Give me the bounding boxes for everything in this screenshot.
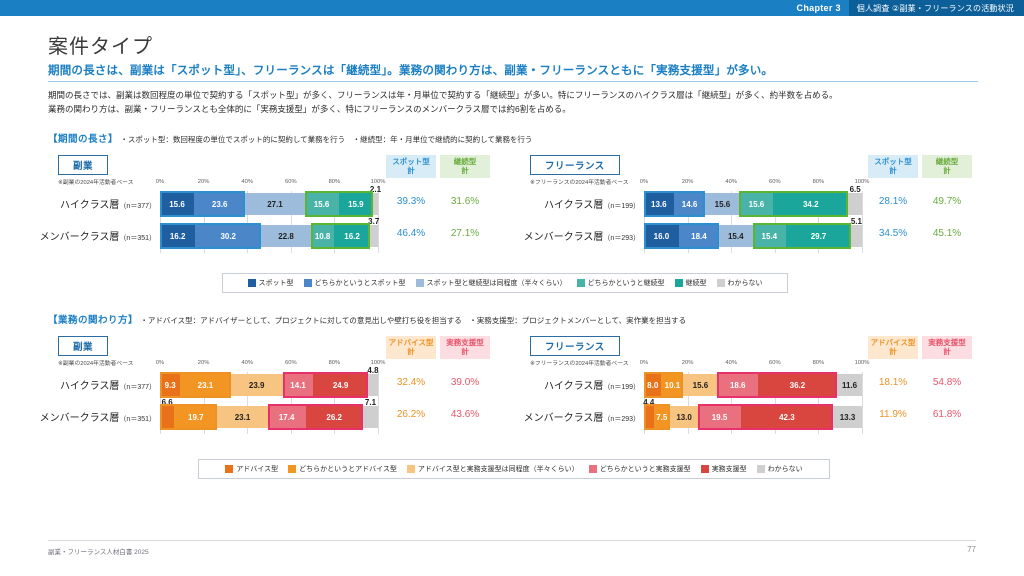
legend-item: わからない — [757, 464, 803, 474]
legend-label: スポット型と継続型は同程度（半々くらい） — [427, 278, 567, 288]
legend-item: どちらかというと実務支援型 — [589, 464, 691, 474]
summary-header-line2: 計 — [868, 348, 918, 357]
section-title-duration: 【期間の長さ】 — [48, 134, 118, 145]
legend-item: わからない — [717, 278, 763, 288]
bar-segment: 42.3 — [741, 406, 833, 428]
stacked-bar: 8.010.115.618.636.211.6 — [644, 374, 862, 396]
legend-swatch-icon — [407, 465, 415, 473]
axis-tick: 20% — [682, 179, 694, 185]
chart-row: ハイクラス層（n＝199）8.010.115.618.636.211.6 — [644, 374, 862, 396]
bar-segment: 34.2 — [773, 193, 848, 215]
row-label-count: （n＝293） — [603, 416, 640, 423]
bar-segment: 15.4 — [753, 225, 787, 247]
legend-label: どちらかというと実務支援型 — [600, 464, 691, 474]
summary-value: 28.1% — [868, 196, 918, 207]
legend-item: 継続型 — [675, 278, 707, 288]
bar-segment: 7.5 — [654, 406, 670, 428]
legend-duration: スポット型どちらかというとスポット型スポット型と継続型は同程度（半々くらい）どち… — [222, 273, 788, 293]
row-label: メンバークラス層（n＝293） — [524, 408, 644, 426]
legend-swatch-icon — [701, 465, 709, 473]
row-label-count: （n＝199） — [603, 384, 640, 391]
axis-tick: 0% — [640, 179, 648, 185]
chapter-number: Chapter 3 — [789, 0, 849, 16]
axis-tick: 40% — [725, 179, 737, 185]
legend-swatch-icon — [225, 465, 233, 473]
summary-value: 18.1% — [868, 377, 918, 388]
legend-item: アドバイス型と実務支援型は同程度（半々くらい） — [407, 464, 579, 474]
bar-segment: 8.0 — [644, 374, 661, 396]
summary-value: 54.8% — [922, 377, 972, 388]
legend-swatch-icon — [416, 279, 424, 287]
axis-tick: 0% — [640, 360, 648, 366]
legend-item: どちらかというとアドバイス型 — [288, 464, 397, 474]
section-title-involvement: 【業務の関わり方】 — [48, 315, 138, 326]
row-label-name: ハイクラス層 — [544, 381, 603, 392]
summary-value: 49.7% — [922, 196, 972, 207]
axis-tick: 60% — [769, 360, 781, 366]
chart-involvement-freelance: フリーランス※フリーランスの2024年活動者ベース0%20%40%60%80%1… — [0, 336, 1024, 436]
panel-tag-freelance: フリーランス — [530, 336, 620, 356]
row-label: ハイクラス層（n＝199） — [544, 376, 644, 394]
bar-segment: 36.2 — [758, 374, 837, 396]
row-label-name: ハイクラス層 — [544, 200, 603, 211]
legend-label: スポット型 — [259, 278, 294, 288]
bar-segment: 14.6 — [674, 193, 706, 215]
bar-segment-value: 6.5 — [850, 184, 861, 194]
bar-segment: 18.6 — [717, 374, 758, 396]
axis-tick: 20% — [682, 360, 694, 366]
bar-segment: 11.6 — [837, 374, 862, 396]
axis-ticks: 0%20%40%60%80%100% — [644, 360, 862, 370]
summary-value: 61.8% — [922, 409, 972, 420]
chart-duration-freelance: フリーランス※フリーランスの2024年活動者ベース0%20%40%60%80%1… — [0, 155, 1024, 255]
bar-segment: 4.4 — [644, 406, 654, 428]
legend-item: どちらかというとスポット型 — [304, 278, 406, 288]
row-label: ハイクラス層（n＝199） — [544, 195, 644, 213]
summary-value: 11.9% — [868, 409, 918, 420]
chapter-subtitle: 個人調査 ②副業・フリーランスの活動状況 — [849, 0, 1024, 16]
legend-label: どちらかというとアドバイス型 — [299, 464, 397, 474]
legend-swatch-icon — [248, 279, 256, 287]
plot-area: ハイクラス層（n＝199）8.010.115.618.636.211.6メンバー… — [644, 372, 862, 434]
legend-item: 実務支援型 — [701, 464, 747, 474]
axis-tick: 80% — [813, 360, 825, 366]
legend-item: スポット型と継続型は同程度（半々くらい） — [416, 278, 567, 288]
axis-tick: 100% — [855, 360, 870, 366]
panel-base-note-freelance_involve: ※フリーランスの2024年活動者ベース — [530, 358, 629, 367]
legend-swatch-icon — [757, 465, 765, 473]
bar-segment: 15.6 — [739, 193, 773, 215]
legend-involvement: アドバイス型どちらかというとアドバイス型アドバイス型と実務支援型は同程度（半々く… — [198, 459, 830, 479]
legend-label: 実務支援型 — [712, 464, 747, 474]
page-title: 案件タイプ — [48, 30, 153, 59]
legend-swatch-icon — [717, 279, 725, 287]
bar-segment: 13.6 — [644, 193, 674, 215]
row-label-name: メンバークラス層 — [524, 413, 604, 424]
bar-segment: 13.0 — [670, 406, 698, 428]
section-heading-involvement: 【業務の関わり方】 ・アドバイス型：アドバイザーとして、プロジェクトに対しての意… — [48, 312, 686, 326]
summary-column-header: スポット型計 — [868, 155, 918, 178]
bar-segment: 6.5 — [848, 193, 862, 215]
legend-swatch-icon — [589, 465, 597, 473]
legend-swatch-icon — [304, 279, 312, 287]
chart-row: メンバークラス層（n＝293）4.47.513.019.542.313.3 — [644, 406, 862, 428]
stacked-bar: 16.018.415.415.429.75.1 — [644, 225, 862, 247]
stacked-bar: 4.47.513.019.542.313.3 — [644, 406, 862, 428]
chart-row: ハイクラス層（n＝199）13.614.615.615.634.26.5 — [644, 193, 862, 215]
footer-source: 副業・フリーランス人材白書 2025 — [48, 546, 149, 556]
legend-item: アドバイス型 — [225, 464, 278, 474]
section-note-involvement: ・アドバイス型：アドバイザーとして、プロジェクトに対しての意見出しや壁打ち役を担… — [140, 316, 686, 325]
bar-segment: 19.5 — [698, 406, 741, 428]
axis-tick: 60% — [769, 179, 781, 185]
lead-statement: 期間の長さは、副業は「スポット型」、フリーランスは「継続型」。業務の関わり方は、… — [48, 62, 978, 82]
stacked-bar: 13.614.615.615.634.26.5 — [644, 193, 862, 215]
footer-page-number: 77 — [967, 545, 976, 554]
row-label-name: メンバークラス層 — [524, 232, 604, 243]
panel-base-note-freelance_duration: ※フリーランスの2024年活動者ベース — [530, 177, 629, 186]
description-line-1: 期間の長さでは、副業は数回程度の単位で契約する「スポット型」が多く、フリーランス… — [48, 88, 988, 102]
legend-label: アドバイス型 — [236, 464, 278, 474]
axis-tick: 80% — [813, 179, 825, 185]
bar-segment: 29.7 — [786, 225, 851, 247]
bar-segment-value: 5.1 — [851, 216, 862, 226]
description-block: 期間の長さでは、副業は数回程度の単位で契約する「スポット型」が多く、フリーランス… — [48, 88, 988, 116]
bar-segment: 15.4 — [719, 225, 753, 247]
footer-divider — [48, 540, 976, 541]
axis-ticks: 0%20%40%60%80%100% — [644, 179, 862, 189]
bar-segment: 15.6 — [683, 374, 717, 396]
row-label-count: （n＝199） — [603, 203, 640, 210]
plot-area: ハイクラス層（n＝199）13.614.615.615.634.26.5メンバー… — [644, 191, 862, 253]
bar-segment: 18.4 — [679, 225, 719, 247]
axis-tick: 40% — [725, 360, 737, 366]
bar-segment: 16.0 — [644, 225, 679, 247]
summary-header-line2: 計 — [922, 167, 972, 176]
bar-segment: 10.1 — [661, 374, 683, 396]
legend-item: スポット型 — [248, 278, 294, 288]
legend-swatch-icon — [675, 279, 683, 287]
legend-label: どちらかというと継続型 — [588, 278, 665, 288]
legend-swatch-icon — [577, 279, 585, 287]
bar-segment: 15.6 — [705, 193, 739, 215]
row-label: メンバークラス層（n＝293） — [524, 227, 644, 245]
summary-column-header: 実務支援型計 — [922, 336, 972, 359]
summary-header-line2: 計 — [922, 348, 972, 357]
legend-label: わからない — [728, 278, 763, 288]
panel-tag-freelance: フリーランス — [530, 155, 620, 175]
section-heading-duration: 【期間の長さ】 ・スポット型：数回程度の単位でスポット的に契約して業務を行う ・… — [48, 131, 532, 145]
legend-item: どちらかというと継続型 — [577, 278, 665, 288]
legend-label: わからない — [768, 464, 803, 474]
description-line-2: 業務の関わり方は、副業・フリーランスとも全体的に「実務支援型」が多く、特にフリー… — [48, 102, 988, 116]
row-label-count: （n＝293） — [603, 235, 640, 242]
section-note-duration: ・スポット型：数回程度の単位でスポット的に契約して業務を行う ・継続型：年・月単… — [120, 135, 532, 144]
bar-segment: 5.1 — [851, 225, 862, 247]
summary-header-line2: 計 — [868, 167, 918, 176]
bar-segment: 13.3 — [833, 406, 862, 428]
chart-row: メンバークラス層（n＝293）16.018.415.415.429.75.1 — [644, 225, 862, 247]
summary-column-header: アドバイス型計 — [868, 336, 918, 359]
legend-label: どちらかというとスポット型 — [315, 278, 406, 288]
summary-value: 34.5% — [868, 228, 918, 239]
summary-column-header: 継続型計 — [922, 155, 972, 178]
legend-label: アドバイス型と実務支援型は同程度（半々くらい） — [418, 464, 579, 474]
summary-value: 45.1% — [922, 228, 972, 239]
legend-swatch-icon — [288, 465, 296, 473]
legend-label: 継続型 — [686, 278, 707, 288]
chapter-bar: Chapter 3 個人調査 ②副業・フリーランスの活動状況 — [0, 0, 1024, 16]
